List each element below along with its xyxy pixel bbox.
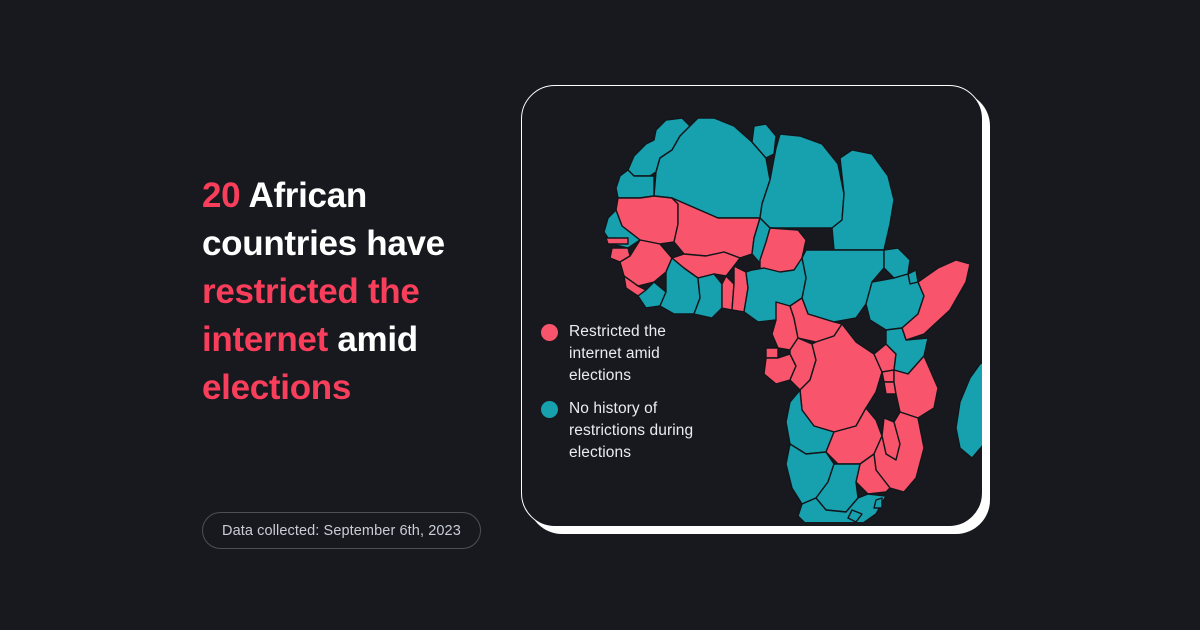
map-country-equatorial-guinea (766, 348, 778, 358)
infographic-canvas: 20 African countries have restricted the… (0, 0, 1200, 630)
legend-item-label: No history of restrictions during electi… (569, 398, 721, 464)
legend-item-1: No history of restrictions during electi… (541, 398, 721, 464)
legend-dot-icon (541, 401, 558, 418)
page-title: 20 African countries have restricted the… (202, 172, 502, 412)
headline-block: 20 African countries have restricted the… (202, 172, 502, 412)
headline-segment-3: amid (328, 320, 418, 359)
data-collected-badge: Data collected: September 6th, 2023 (202, 512, 481, 549)
map-card-inner: Restricted the internet amid electionsNo… (522, 86, 982, 526)
data-collected-label: Data collected: September 6th, 2023 (222, 523, 461, 539)
map-country-eritrea (884, 248, 910, 278)
legend-item-label: Restricted the internet amid elections (569, 321, 721, 387)
headline-segment-4: elections (202, 368, 351, 407)
legend-item-0: Restricted the internet amid elections (541, 321, 721, 387)
map-card: Restricted the internet amid electionsNo… (521, 85, 983, 527)
map-legend: Restricted the internet amid electionsNo… (541, 321, 721, 475)
map-country-gambia (606, 238, 628, 244)
map-country-madagascar (956, 360, 982, 458)
map-country-rwanda (882, 370, 894, 382)
headline-segment-0: 20 (202, 176, 240, 215)
legend-dot-icon (541, 324, 558, 341)
